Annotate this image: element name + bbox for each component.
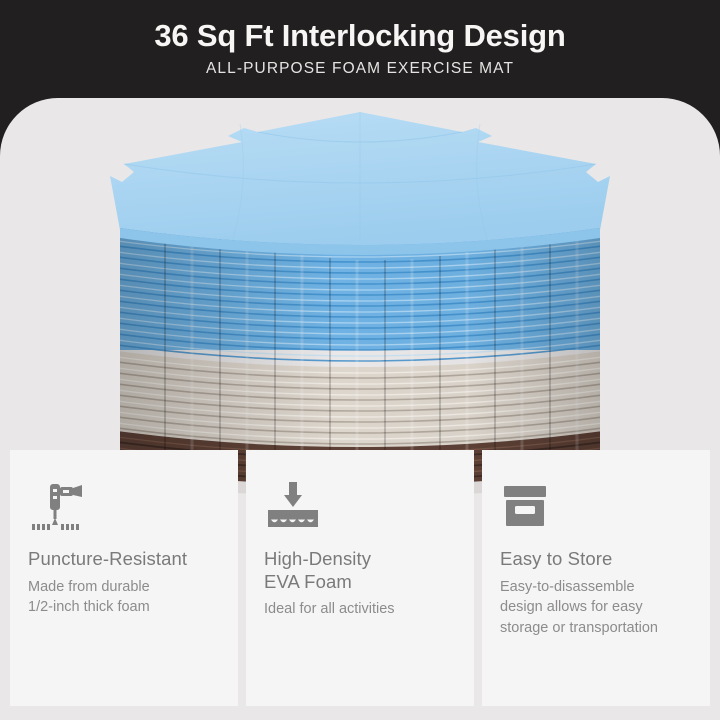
header-banner: 36 Sq Ft Interlocking Design ALL-PURPOSE… — [0, 0, 720, 100]
product-infographic: 36 Sq Ft Interlocking Design ALL-PURPOSE… — [0, 0, 720, 720]
product-card: Puncture-Resistant Made from durable 1/2… — [0, 98, 720, 720]
feature-card-high-density-eva-foam: High-Density EVA Foam Ideal for all acti… — [246, 450, 474, 706]
feature-description: Made from durable 1/2-inch thick foam — [28, 577, 220, 618]
feature-panel-list: Puncture-Resistant Made from durable 1/2… — [10, 450, 710, 706]
foam-stack-svg — [0, 98, 720, 498]
feature-card-puncture-resistant: Puncture-Resistant Made from durable 1/2… — [10, 450, 238, 706]
downward-pressure-foam-icon — [264, 480, 322, 532]
feature-card-easy-to-store: Easy to Store Easy-to-disassemble design… — [482, 450, 710, 706]
feature-description: Ideal for all activities — [264, 599, 456, 620]
feature-title: High-Density EVA Foam — [264, 548, 456, 593]
drill-puncture-icon — [28, 480, 86, 532]
storage-box-icon — [500, 480, 558, 532]
foam-stack-illustration — [0, 98, 720, 498]
feature-title: Easy to Store — [500, 548, 692, 571]
page-subtitle: ALL-PURPOSE FOAM EXERCISE MAT — [0, 54, 720, 78]
feature-title: Puncture-Resistant — [28, 548, 220, 571]
feature-description: Easy-to-disassemble design allows for ea… — [500, 577, 692, 639]
page-title: 36 Sq Ft Interlocking Design — [0, 0, 720, 54]
